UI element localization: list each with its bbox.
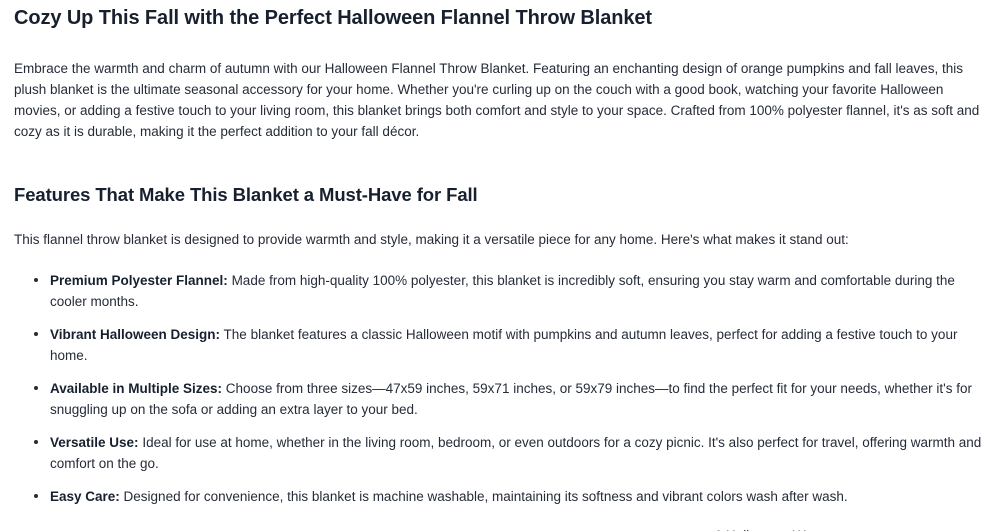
bullet-icon (34, 440, 38, 444)
lead-paragraph: Embrace the warmth and charm of autumn w… (14, 58, 986, 142)
bullet-icon (34, 278, 38, 282)
feature-term: Easy Care: (50, 489, 120, 504)
feature-term: Premium Polyester Flannel: (50, 273, 228, 288)
list-item: Easy Care: Designed for convenience, thi… (14, 486, 986, 507)
feature-term: Available in Multiple Sizes: (50, 381, 222, 396)
document-body: Cozy Up This Fall with the Perfect Hallo… (0, 6, 1000, 531)
feature-list: Premium Polyester Flannel: Made from hig… (14, 270, 986, 507)
clipped-next-line-text: A Halloween Wa (714, 525, 813, 531)
list-item: Premium Polyester Flannel: Made from hig… (14, 270, 986, 312)
feature-description: Designed for convenience, this blanket i… (120, 489, 848, 504)
list-item: Versatile Use: Ideal for use at home, wh… (14, 432, 986, 474)
list-item: Available in Multiple Sizes: Choose from… (14, 378, 986, 420)
section-intro-paragraph: This flannel throw blanket is designed t… (14, 229, 986, 250)
list-item: Vibrant Halloween Design: The blanket fe… (14, 324, 986, 366)
bullet-icon (34, 332, 38, 336)
section-heading-features: Features That Make This Blanket a Must-H… (14, 184, 986, 206)
page-title: Cozy Up This Fall with the Perfect Hallo… (14, 6, 986, 30)
bullet-icon (34, 494, 38, 498)
feature-term: Vibrant Halloween Design: (50, 327, 220, 342)
bullet-icon (34, 386, 38, 390)
clipped-next-line: A Halloween Wa (14, 519, 986, 531)
feature-description: Ideal for use at home, whether in the li… (50, 435, 981, 471)
feature-term: Versatile Use: (50, 435, 139, 450)
